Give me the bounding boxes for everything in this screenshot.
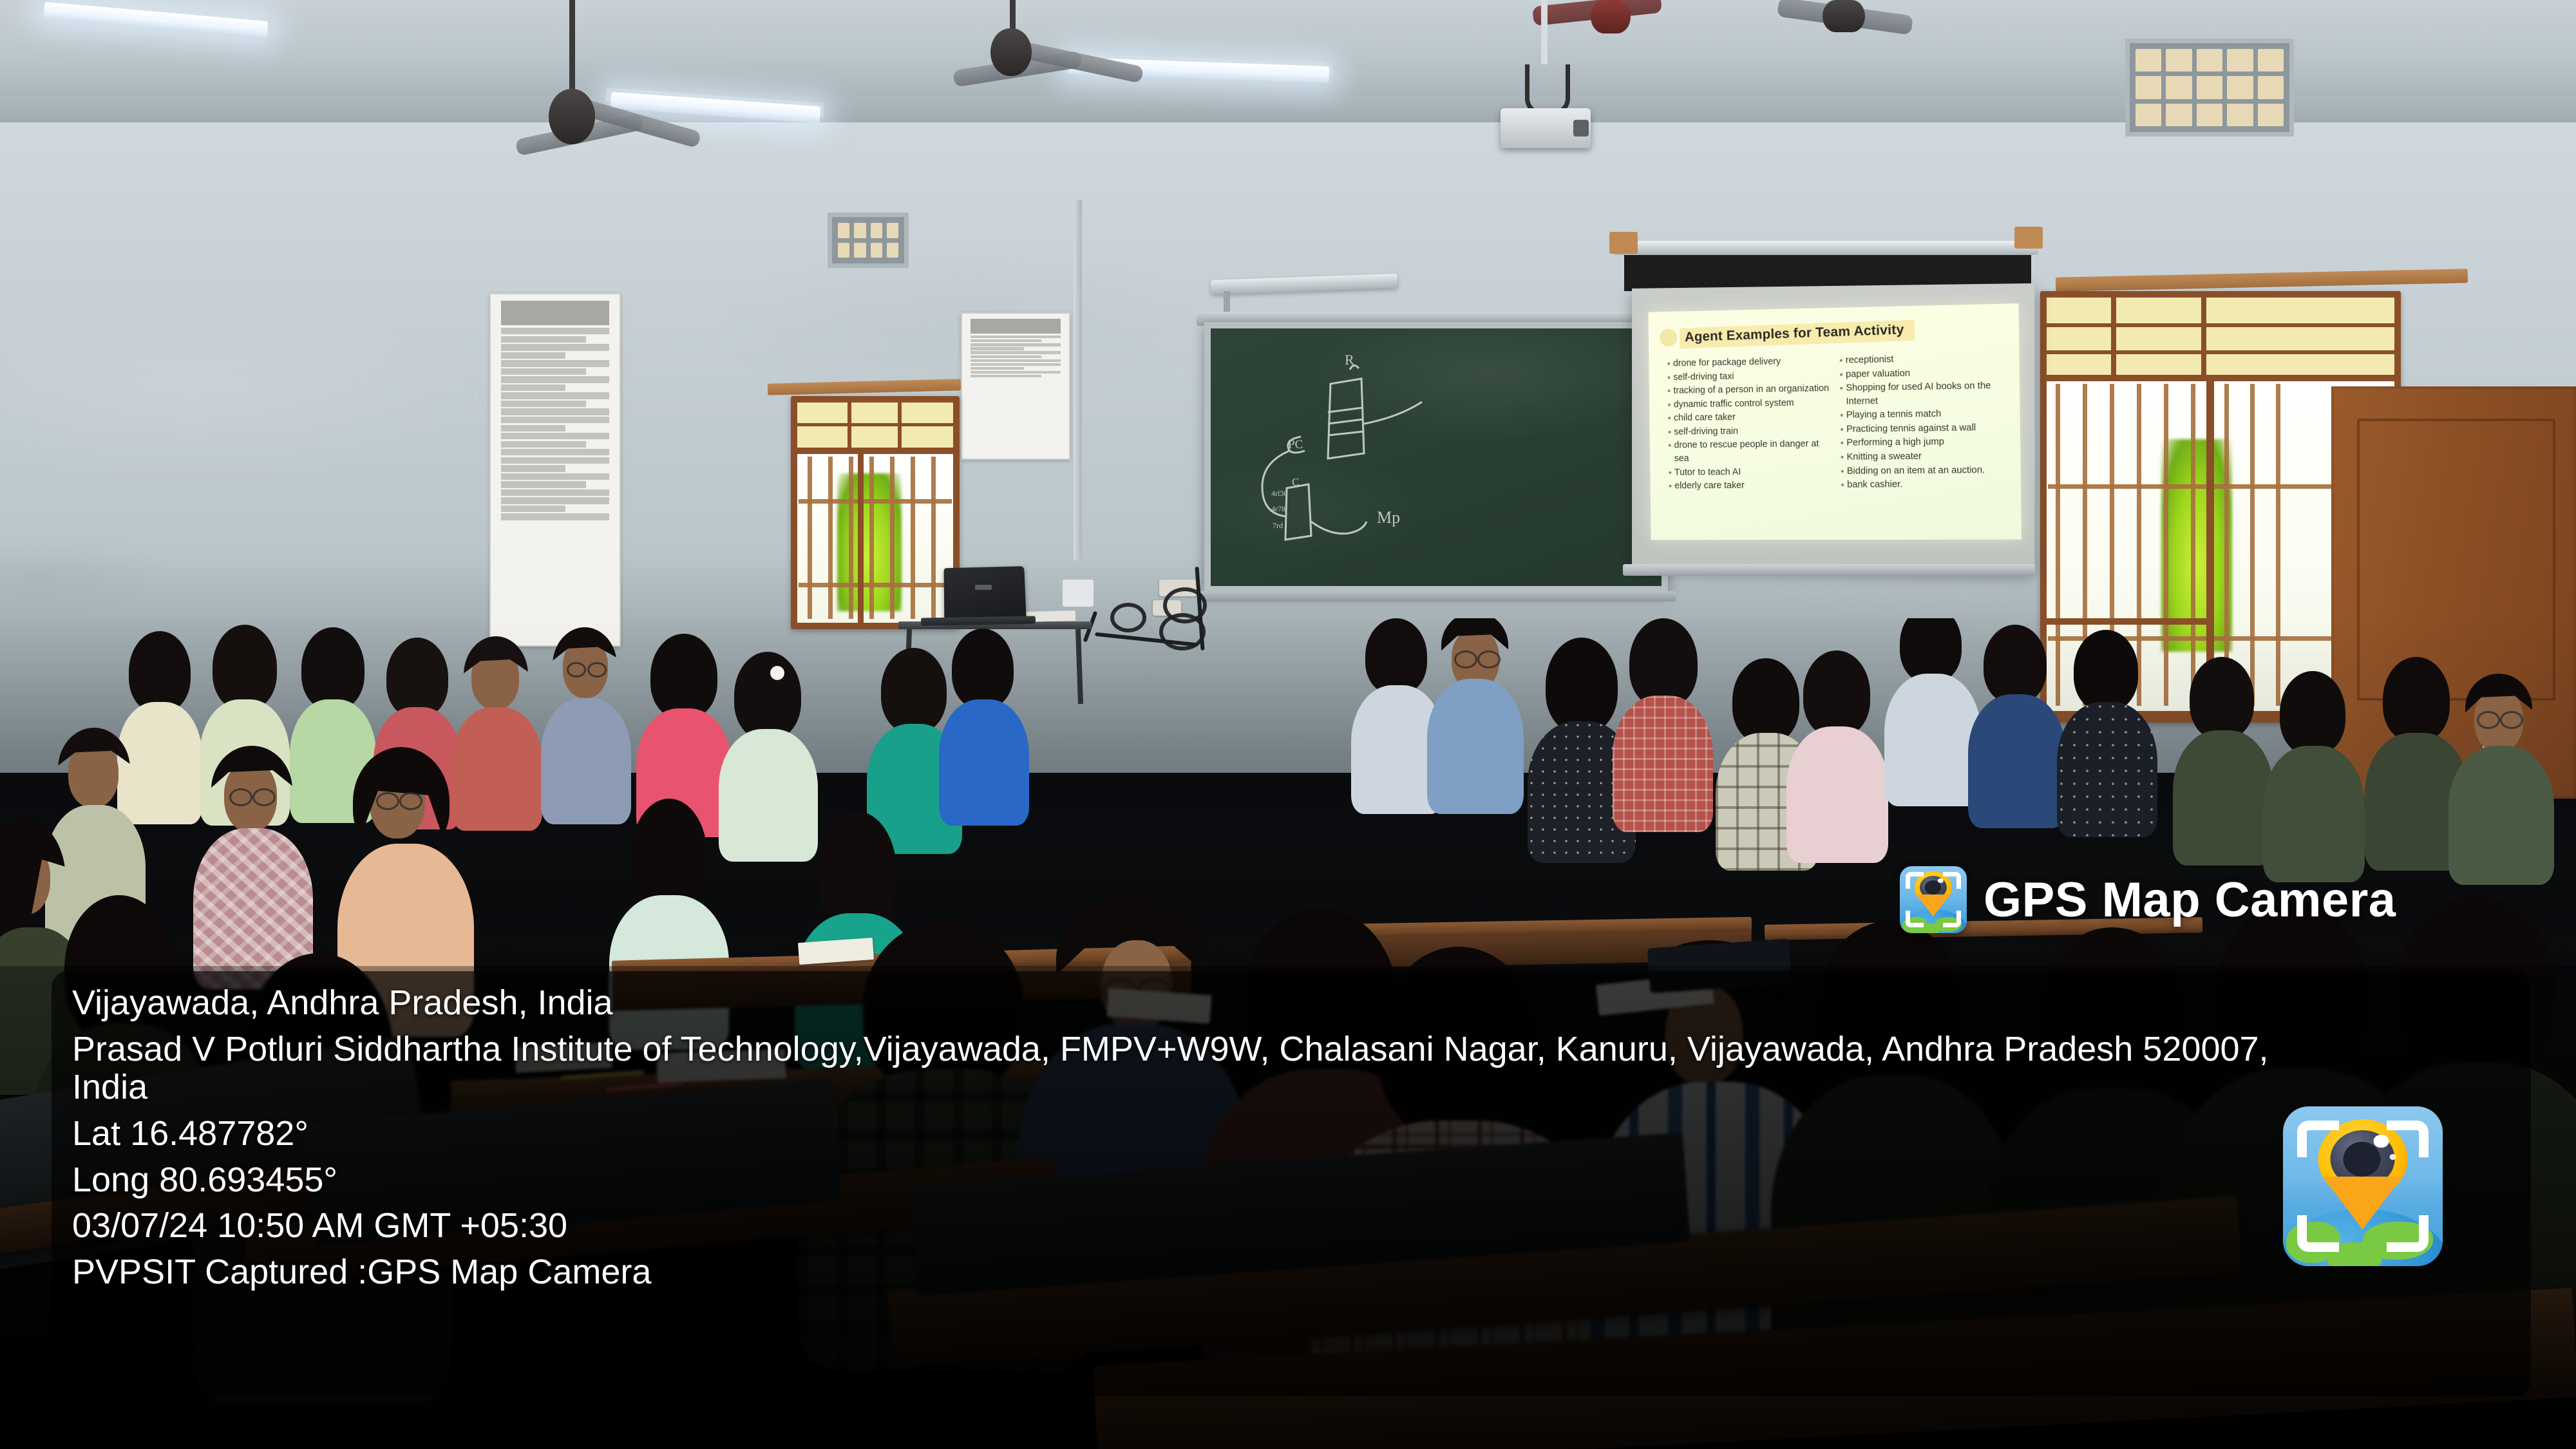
slide-title: Agent Examples for Team Activity (1680, 320, 1915, 349)
poster-program-outcomes (489, 293, 621, 647)
projection-screen-weight-bar (1623, 564, 2035, 576)
gps-info-text: Vijayawada, Andhra Pradesh, India Prasad… (72, 984, 2275, 1300)
gps-map-camera-logo-icon (1900, 866, 1967, 933)
slide-item: Tutor to teach AI (1667, 465, 1836, 479)
photo-canvas: R PC C Mp 4rl30 4r78 7rd Agent Exampl (0, 0, 2576, 1449)
slide-item: paper valuation (1839, 365, 2014, 381)
window-left-frame (791, 396, 960, 629)
projector-rod (1541, 0, 1548, 64)
svg-text:R: R (1345, 352, 1354, 368)
slide-item: Practicing tennis against a wall (1839, 421, 2015, 436)
gps-watermark-label: GPS Map Camera (1984, 872, 2396, 928)
slide-item: drone to rescue people in danger at sea (1667, 437, 1836, 465)
slide-right-column: receptionist paper valuation Shopping fo… (1839, 351, 2016, 493)
ceiling-fan-motor (1591, 0, 1631, 33)
laptop-icon[interactable] (944, 566, 1027, 623)
projection-screen-roller (1613, 241, 2038, 255)
presentation-slide: Agent Examples for Team Activity drone f… (1648, 303, 2022, 540)
fan-rod (569, 0, 575, 90)
slide-item: Playing a tennis match (1839, 406, 2015, 422)
slide-bullet-icon (1660, 328, 1677, 346)
location-place: Vijayawada, Andhra Pradesh, India (72, 984, 2275, 1023)
conduit-junction-box (1063, 580, 1094, 607)
slide-item: Shopping for used AI books on the Intern… (1839, 379, 2014, 409)
slide-item: Performing a high jump (1839, 435, 2015, 450)
slide-item: self-driving train (1667, 424, 1836, 439)
screen-bracket (1609, 232, 1638, 254)
slide-item: Knitting a sweater (1840, 449, 2016, 464)
svg-text:7rd: 7rd (1273, 521, 1283, 530)
ceiling-fan-motor (549, 89, 595, 144)
laptop-brand-logo (975, 585, 992, 590)
chalk-diagram: R PC C Mp 4rl30 4r78 7rd (1204, 322, 1668, 592)
svg-text:PC: PC (1288, 438, 1303, 451)
slide-item: tracking of a person in an organization (1667, 382, 1835, 398)
wall-ventilator (2125, 39, 2294, 137)
svg-text:4rl30: 4rl30 (1271, 489, 1287, 498)
svg-text:C: C (1292, 476, 1299, 488)
slide-item: elderly care taker (1668, 478, 1837, 493)
slide-left-column: drone for package delivery self-driving … (1666, 354, 1836, 493)
gps-map-camera-logo-icon (2283, 1106, 2443, 1266)
capture-note: PVPSIT Captured :GPS Map Camera (72, 1253, 2275, 1292)
slide-item: dynamic traffic control system (1667, 396, 1835, 412)
slide-item: child care taker (1667, 410, 1835, 425)
capture-timestamp: 03/07/24 10:50 AM GMT +05:30 (72, 1207, 2275, 1245)
gps-watermark: GPS Map Camera (1900, 866, 2396, 933)
poster-notice (961, 312, 1070, 460)
ceiling-fan-motor (990, 28, 1032, 76)
screen-bracket (2014, 227, 2043, 249)
slide-item: self-driving taxi (1667, 368, 1835, 384)
gps-map-camera-logo-large (2283, 1106, 2443, 1266)
longitude-value: Long 80.693455° (72, 1161, 2275, 1200)
ceiling-fan-motor (1823, 0, 1865, 32)
slide-item: Bidding on an item at an auction. (1840, 463, 2016, 478)
location-address: Prasad V Potluri Siddhartha Institute of… (72, 1030, 2275, 1107)
projector-lens-icon (1573, 120, 1589, 137)
slide-item: bank cashier. (1840, 477, 2016, 491)
wall-ventilator (828, 213, 909, 268)
window-transom-glass (2047, 298, 2394, 375)
wall-conduit (1074, 200, 1082, 560)
blackboard-icon: R PC C Mp 4rl30 4r78 7rd (1204, 322, 1668, 592)
svg-text:Mp: Mp (1377, 508, 1400, 527)
latitude-value: Lat 16.487782° (72, 1115, 2275, 1153)
chalk-tray (1199, 591, 1676, 601)
svg-text:4r78: 4r78 (1271, 504, 1285, 513)
